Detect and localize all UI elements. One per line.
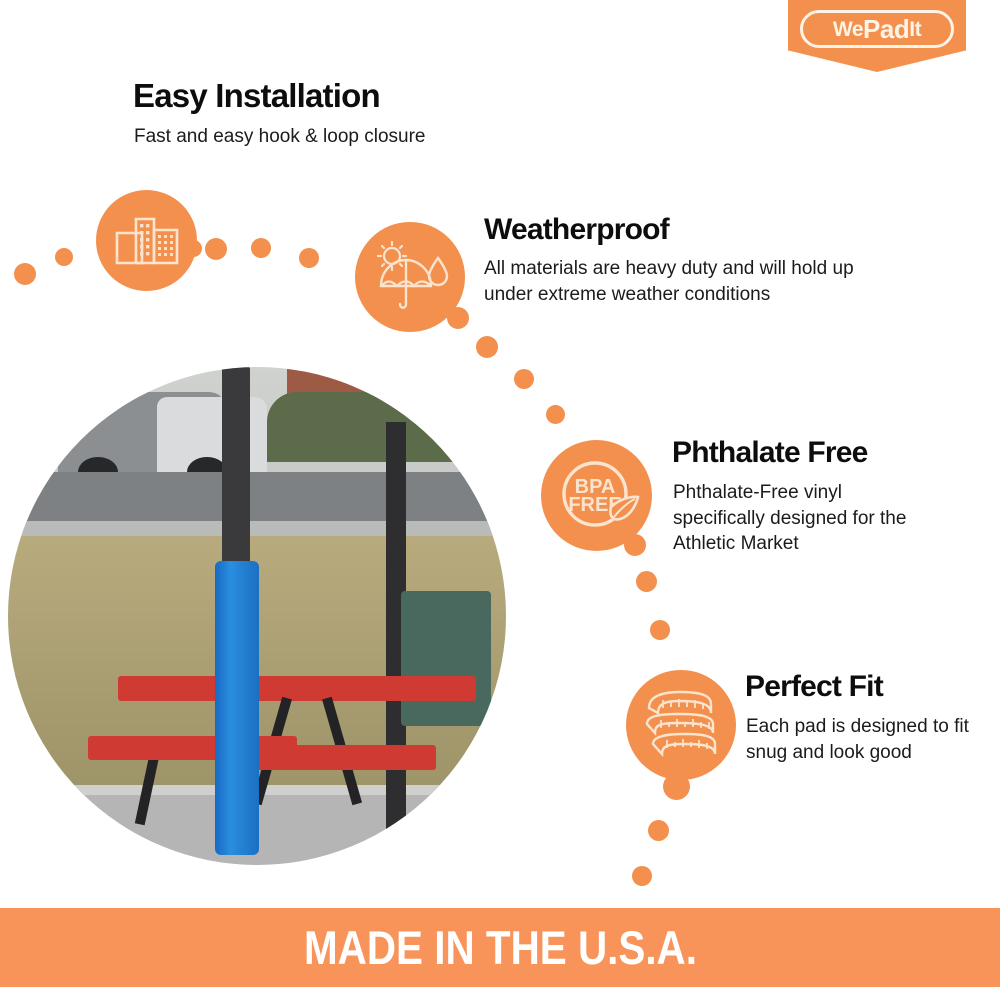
trail-dot bbox=[299, 248, 319, 268]
made-in-usa-text: MADE IN THE U.S.A. bbox=[304, 920, 697, 975]
infographic-page: WePadIt Easy Installation Fast and easy … bbox=[0, 0, 1000, 987]
measuring-tape-icon bbox=[626, 670, 736, 780]
trail-dot bbox=[251, 238, 271, 258]
buildings-icon bbox=[96, 190, 197, 291]
bpa-free-leaf-icon-glyph: BPA FREE bbox=[554, 453, 640, 539]
trail-dot bbox=[546, 405, 565, 424]
photo-blue-pole-pad bbox=[215, 561, 260, 855]
photo-bench bbox=[257, 745, 436, 770]
icon-tail-blob-install bbox=[185, 240, 202, 257]
logo-text-it: It bbox=[909, 19, 921, 40]
product-photo bbox=[8, 367, 506, 865]
trail-dot bbox=[514, 369, 534, 389]
sun-umbrella-raindrop-icon-glyph bbox=[371, 240, 449, 314]
feature-description-weatherproof: All materials are heavy duty and will ho… bbox=[484, 256, 904, 307]
icon-tail-blob-fit bbox=[663, 773, 690, 800]
feature-description-perfect-fit: Each pad is designed to fit snug and loo… bbox=[746, 714, 976, 765]
feature-title-perfect-fit: Perfect Fit bbox=[745, 671, 883, 703]
logo-text-we: We bbox=[833, 19, 863, 40]
buildings-icon-glyph bbox=[114, 213, 180, 269]
trail-dot bbox=[476, 336, 498, 358]
icon-tail-blob-bpa bbox=[624, 534, 646, 556]
trail-dot bbox=[55, 248, 73, 266]
feature-description-phthalate-free: Phthalate-Free vinyl specifically design… bbox=[673, 480, 933, 557]
photo-trash-can bbox=[401, 591, 491, 725]
trail-dot bbox=[14, 263, 36, 285]
feature-title-weatherproof: Weatherproof bbox=[484, 214, 669, 246]
trail-dot bbox=[636, 571, 657, 592]
trail-dot bbox=[648, 820, 669, 841]
feature-description-easy-installation: Fast and easy hook & loop closure bbox=[134, 124, 554, 150]
trail-dot bbox=[205, 238, 227, 260]
feature-title-easy-installation: Easy Installation bbox=[133, 79, 380, 114]
feature-title-phthalate-free: Phthalate Free bbox=[672, 437, 868, 469]
made-in-usa-banner: MADE IN THE U.S.A. bbox=[0, 908, 1000, 987]
brand-logo: WePadIt bbox=[788, 0, 966, 72]
logo-inner-frame: WePadIt bbox=[800, 10, 954, 48]
icon-tail-blob-weather bbox=[447, 307, 469, 329]
logo-text-pad: Pad bbox=[863, 16, 909, 42]
trail-dot bbox=[650, 620, 670, 640]
trail-dot bbox=[632, 866, 652, 886]
photo-table-top bbox=[118, 676, 477, 701]
measuring-tape-icon-glyph bbox=[639, 686, 723, 764]
